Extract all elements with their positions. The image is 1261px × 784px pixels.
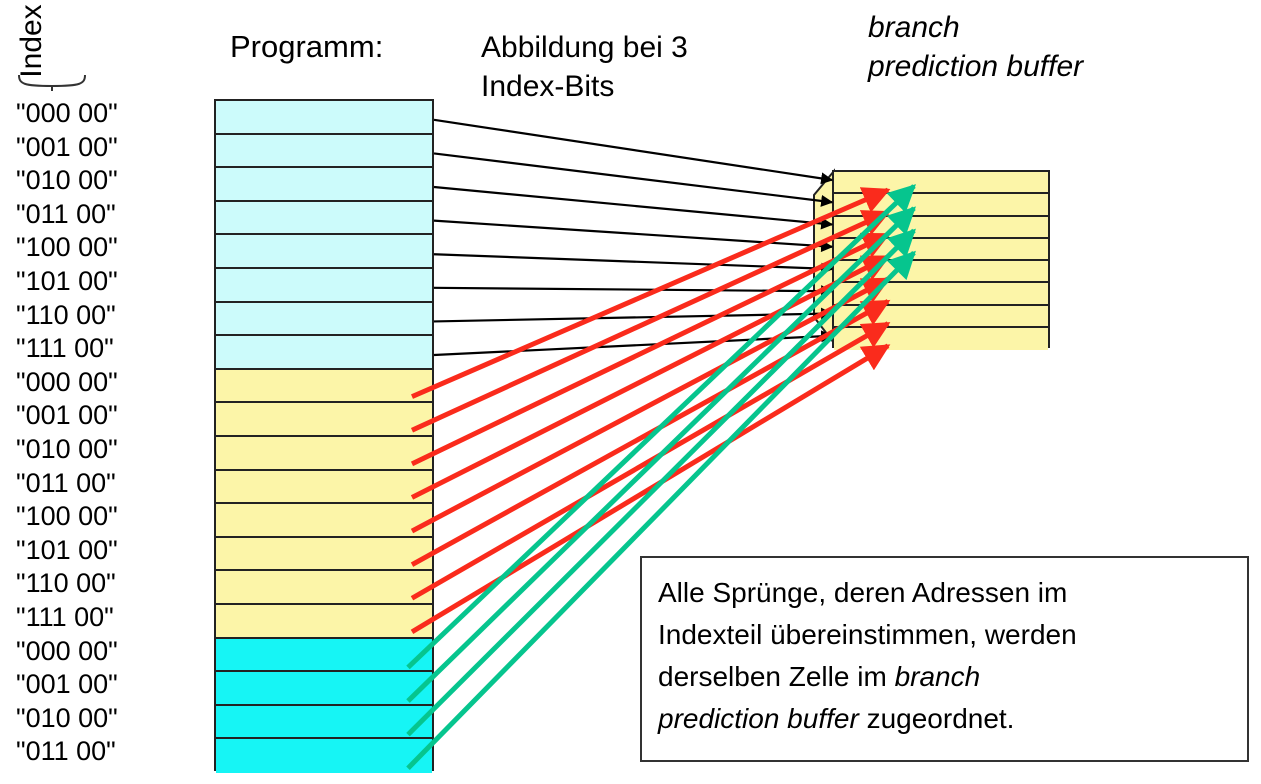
- program-row: [216, 739, 432, 773]
- program-row: [216, 101, 432, 135]
- address-label: "110 00": [16, 298, 196, 332]
- diagram-canvas: Index Programm: Abbildung bei 3 Index-Bi…: [0, 0, 1261, 784]
- program-title: Programm:: [230, 28, 383, 66]
- index-brace-icon: [18, 74, 90, 92]
- address-label: "000 00": [16, 634, 196, 668]
- mapping-arrow-black: [434, 288, 832, 291]
- program-row: [216, 706, 432, 740]
- mapping-arrow-black: [434, 221, 832, 247]
- address-label: "100 00": [16, 230, 196, 264]
- buffer-rows: [832, 170, 1050, 348]
- address-label: "000 00": [16, 365, 196, 399]
- program-row: [216, 403, 432, 437]
- program-row: [216, 504, 432, 538]
- address-label: "111 00": [16, 600, 196, 634]
- address-label: "000 00": [16, 96, 196, 130]
- program-block: [214, 99, 434, 771]
- address-label: "101 00": [16, 533, 196, 567]
- mapping-arrow-black: [434, 336, 832, 355]
- buffer-title: branch prediction buffer: [868, 8, 1098, 86]
- program-row: [216, 471, 432, 505]
- buffer-row: [834, 239, 1048, 261]
- mapping-title: Abbildung bei 3 Index-Bits: [481, 28, 761, 106]
- address-label: "100 00": [16, 499, 196, 533]
- address-label: "010 00": [16, 432, 196, 466]
- address-label: "001 00": [16, 130, 196, 164]
- program-row: [216, 370, 432, 404]
- program-row: [216, 538, 432, 572]
- buffer-row: [834, 217, 1048, 239]
- program-row: [216, 303, 432, 337]
- branch-prediction-buffer: [780, 165, 1055, 355]
- address-label: "011 00": [16, 466, 196, 500]
- note-line2: Indexteil übereinstimmen, werden: [658, 619, 1077, 650]
- address-label: "011 00": [16, 197, 196, 231]
- note-line4-em: prediction buffer: [658, 703, 859, 734]
- note-line4-post: zugeordnet.: [859, 703, 1015, 734]
- mapping-arrow-black: [434, 314, 832, 322]
- mapping-arrow-black: [434, 153, 832, 202]
- buffer-row: [834, 306, 1048, 328]
- address-label: "101 00": [16, 264, 196, 298]
- program-row: [216, 571, 432, 605]
- address-label: "010 00": [16, 701, 196, 735]
- program-row: [216, 202, 432, 236]
- buffer-row: [834, 194, 1048, 216]
- program-row: [216, 672, 432, 706]
- program-row: [216, 135, 432, 169]
- address-label: "111 00": [16, 331, 196, 365]
- mapping-arrow-black: [434, 187, 832, 224]
- mapping-arrow-black: [434, 254, 832, 269]
- address-label: "010 00": [16, 163, 196, 197]
- note-line1: Alle Sprünge, deren Adressen im: [658, 577, 1067, 608]
- program-row: [216, 605, 432, 639]
- explanation-note: Alle Sprünge, deren Adressen im Indextei…: [640, 556, 1249, 762]
- note-line3-em: branch: [895, 661, 981, 692]
- program-row: [216, 269, 432, 303]
- address-label: "110 00": [16, 566, 196, 600]
- program-row: [216, 639, 432, 673]
- note-text: Alle Sprünge, deren Adressen im Indextei…: [642, 558, 1247, 740]
- address-label: "001 00": [16, 398, 196, 432]
- buffer-row: [834, 283, 1048, 305]
- program-row: [216, 168, 432, 202]
- address-label: "001 00": [16, 667, 196, 701]
- program-row: [216, 437, 432, 471]
- program-row: [216, 336, 432, 370]
- mapping-arrow-black: [434, 120, 832, 180]
- note-line3-pre: derselben Zelle im: [658, 661, 895, 692]
- buffer-row: [834, 328, 1048, 350]
- address-label: "011 00": [16, 734, 196, 768]
- buffer-row: [834, 261, 1048, 283]
- program-row: [216, 235, 432, 269]
- buffer-row: [834, 172, 1048, 194]
